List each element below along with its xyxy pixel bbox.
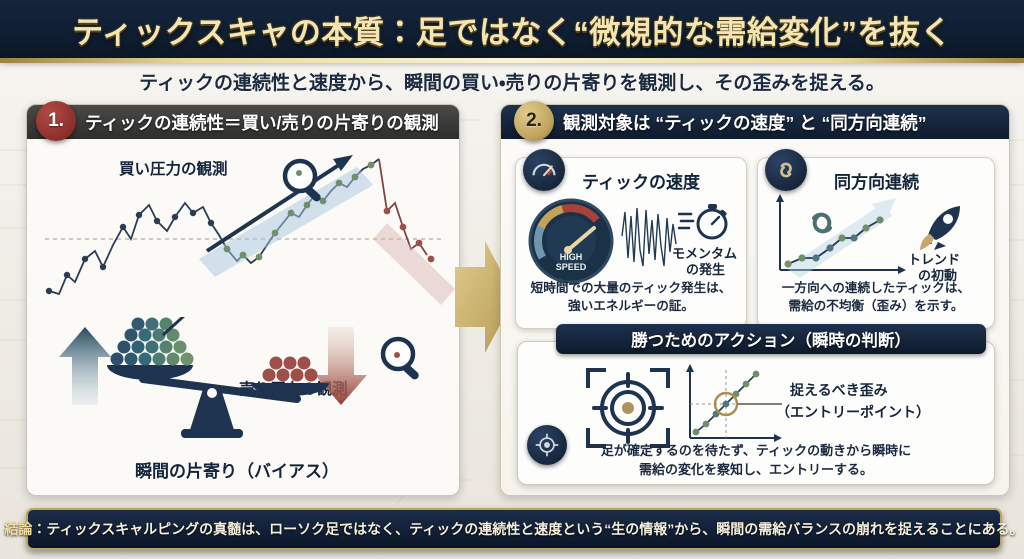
speedometer-gauge: HIGH SPEED: [528, 198, 614, 284]
panel-left-number-badge: 1.: [36, 101, 76, 141]
gauge-label-high: HIGH: [560, 252, 583, 262]
gold-divider: [0, 58, 1024, 63]
action-title: 勝つためのアクション（瞬時の判断）: [631, 327, 911, 351]
entry-annotation-line2: （エントリーポイント）: [776, 404, 930, 422]
chain-link-icon: [765, 149, 807, 191]
page-title: ティックスキャの本質：足ではなく“微視的な需給変化”を抜く: [72, 7, 952, 52]
panel-left-title: ティックの連続性＝買い/売りの片寄りの観測: [85, 110, 439, 135]
card-tick-speed-caption-1: 短時間での大量のティック発生は、: [516, 280, 746, 297]
balance-scale-icon: [45, 317, 445, 467]
panel-right-number-badge: 2.: [514, 101, 554, 141]
card-tick-speed-caption-2: 強いエネルギーの証。: [516, 298, 746, 315]
rocket-icon: [914, 200, 968, 254]
stopwatch-icon: [678, 200, 732, 244]
momentum-note-line1: モメンタム: [672, 246, 737, 262]
magnifier-icon: [279, 155, 331, 207]
momentum-tick-burst: [620, 200, 678, 272]
panel-tick-continuity: ティックの連続性＝買い/売りの片寄りの観測: [26, 104, 460, 496]
action-caption-1: 足が確定するのを待たず、ティックの動きから瞬時に: [518, 442, 994, 460]
tick-dots: [46, 210, 214, 294]
tick-sequence-chart: [27, 139, 459, 324]
entry-annotation-line1: 捉えるべき歪み: [790, 382, 888, 400]
panel-observation-targets: 観測対象は “ティックの速度” と “同方向連続” ティックの速度 HIGH S…: [500, 104, 1010, 496]
page-title-bar: ティックスキャの本質：足ではなく“微視的な需給変化”を抜く: [0, 0, 1024, 61]
infographic-root: ティックスキャの本質：足ではなく“微視的な需給変化”を抜く ティックの連続性と速…: [0, 0, 1024, 559]
action-header: 勝つためのアクション（瞬時の判断）: [556, 324, 986, 354]
card-same-direction-caption-1: 一方向への連続したティックは、: [758, 280, 994, 297]
chain-link-icon: [814, 215, 830, 232]
panel-right-title: 観測対象は “ティックの速度” と “同方向連続”: [563, 110, 927, 135]
trend-note-line1: トレンド: [908, 252, 960, 268]
conclusion-text: ティックスキャルピングの真髄は、ローソク足ではなく、ティックの連続性と速度という…: [46, 519, 1023, 539]
arrow-up-icon: [59, 327, 111, 405]
action-caption-2: 需給の変化を察知し、エントリーする。: [518, 461, 994, 479]
label-instant-bias: 瞬間の片寄り（バイアス）: [135, 457, 339, 482]
card-winning-action: 勝つためのアクション（瞬時の判断）: [517, 341, 995, 485]
entry-point-chart: [678, 364, 786, 452]
gauge-label-speed: SPEED: [556, 262, 587, 272]
conclusion-bar: 結論： ティックスキャルピングの真髄は、ローソク足ではなく、ティックの連続性と速…: [26, 508, 1002, 550]
panel-right-header: 観測対象は “ティックの速度” と “同方向連続”: [501, 105, 1009, 139]
sell-pressure-band: [373, 223, 455, 305]
crosshair-icon: [527, 425, 567, 465]
label-buy-pressure: 買い圧力の観測: [119, 157, 228, 179]
buy-order-stack: [111, 318, 194, 366]
conclusion-lead: 結論：: [4, 519, 46, 539]
panel-left-header: ティックの連続性＝買い/売りの片寄りの観測: [27, 105, 459, 139]
card-same-direction-title: 同方向連続: [834, 168, 919, 193]
card-tick-speed-title: ティックの速度: [582, 168, 700, 193]
page-subtitle: ティックの連続性と速度から、瞬間の買い・売りの片寄りを観測し、その歪みを捉える。: [0, 66, 1024, 96]
momentum-note-line2: の発生: [686, 262, 725, 278]
one-direction-trend-chart: [768, 194, 908, 284]
target-bracket-icon: [584, 366, 672, 450]
card-same-direction-caption-2: 需給の不均衡（歪み）を示す。: [758, 298, 994, 315]
arrow-down-icon: [315, 327, 367, 405]
speedometer-icon: [523, 149, 565, 191]
sell-order-stack: [263, 357, 318, 382]
